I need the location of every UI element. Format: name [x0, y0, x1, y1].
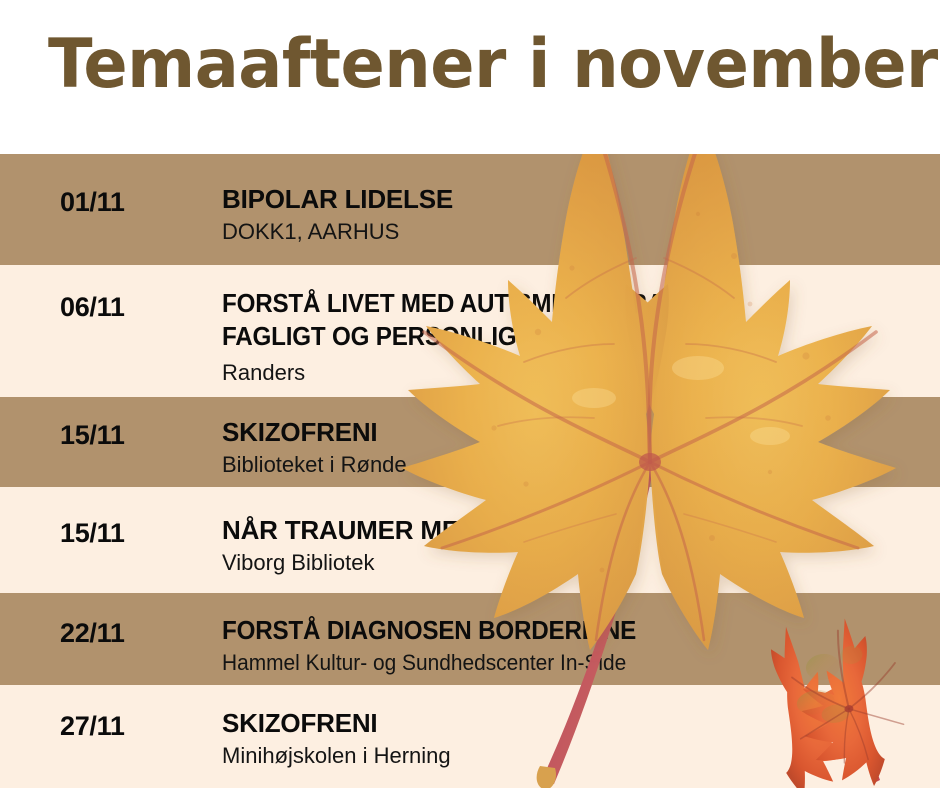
- event-venue: Randers: [222, 359, 928, 387]
- event-row: 15/11 NÅR TRAUMER MEDFØRER PTSD Viborg B…: [0, 487, 940, 593]
- event-body: NÅR TRAUMER MEDFØRER PTSD Viborg Bibliot…: [222, 514, 928, 577]
- event-date: 22/11: [60, 618, 125, 648]
- event-body: FORSTÅ DIAGNOSEN BORDERLINE Hammel Kultu…: [222, 614, 928, 677]
- event-title: NÅR TRAUMER MEDFØRER PTSD: [222, 514, 928, 547]
- event-venue: Hammel Kultur- og Sundhedscenter In-Side: [222, 649, 893, 677]
- event-venue: Minihøjskolen i Herning: [222, 742, 928, 770]
- event-title: SKIZOFRENI: [222, 416, 928, 449]
- event-body: SKIZOFRENI Biblioteket i Rønde: [222, 416, 928, 479]
- poster-canvas: 01/11 BIPOLAR LIDELSE DOKK1, AARHUS 06/1…: [0, 0, 940, 788]
- event-title: BIPOLAR LIDELSE: [222, 183, 928, 216]
- event-body: BIPOLAR LIDELSE DOKK1, AARHUS: [222, 183, 928, 246]
- event-title: FORSTÅ DIAGNOSEN BORDERLINE: [222, 614, 879, 647]
- event-venue: Biblioteket i Rønde: [222, 451, 928, 479]
- event-row: 15/11 SKIZOFRENI Biblioteket i Rønde: [0, 397, 940, 487]
- event-row: 01/11 BIPOLAR LIDELSE DOKK1, AARHUS: [0, 154, 940, 265]
- event-date: 27/11: [60, 711, 125, 741]
- event-venue: DOKK1, AARHUS: [222, 218, 928, 246]
- event-body: SKIZOFRENI Minihøjskolen i Herning: [222, 707, 928, 770]
- event-date: 15/11: [60, 420, 125, 450]
- event-title: FORSTÅ LIVET MED AUTISME UD FRA ET FAGLI…: [222, 287, 879, 353]
- event-row: 22/11 FORSTÅ DIAGNOSEN BORDERLINE Hammel…: [0, 593, 940, 685]
- event-date: 06/11: [60, 292, 125, 322]
- event-schedule-list: 01/11 BIPOLAR LIDELSE DOKK1, AARHUS 06/1…: [0, 154, 940, 788]
- event-date: 15/11: [60, 518, 125, 548]
- event-title: SKIZOFRENI: [222, 707, 928, 740]
- event-venue: Viborg Bibliotek: [222, 549, 928, 577]
- title-bar: Temaaftener i november: [0, 0, 940, 154]
- event-row: 06/11 FORSTÅ LIVET MED AUTISME UD FRA ET…: [0, 265, 940, 397]
- event-date: 01/11: [60, 187, 125, 217]
- page-title: Temaaftener i november: [48, 24, 938, 106]
- event-row: 27/11 SKIZOFRENI Minihøjskolen i Herning: [0, 685, 940, 788]
- event-body: FORSTÅ LIVET MED AUTISME UD FRA ET FAGLI…: [222, 287, 928, 387]
